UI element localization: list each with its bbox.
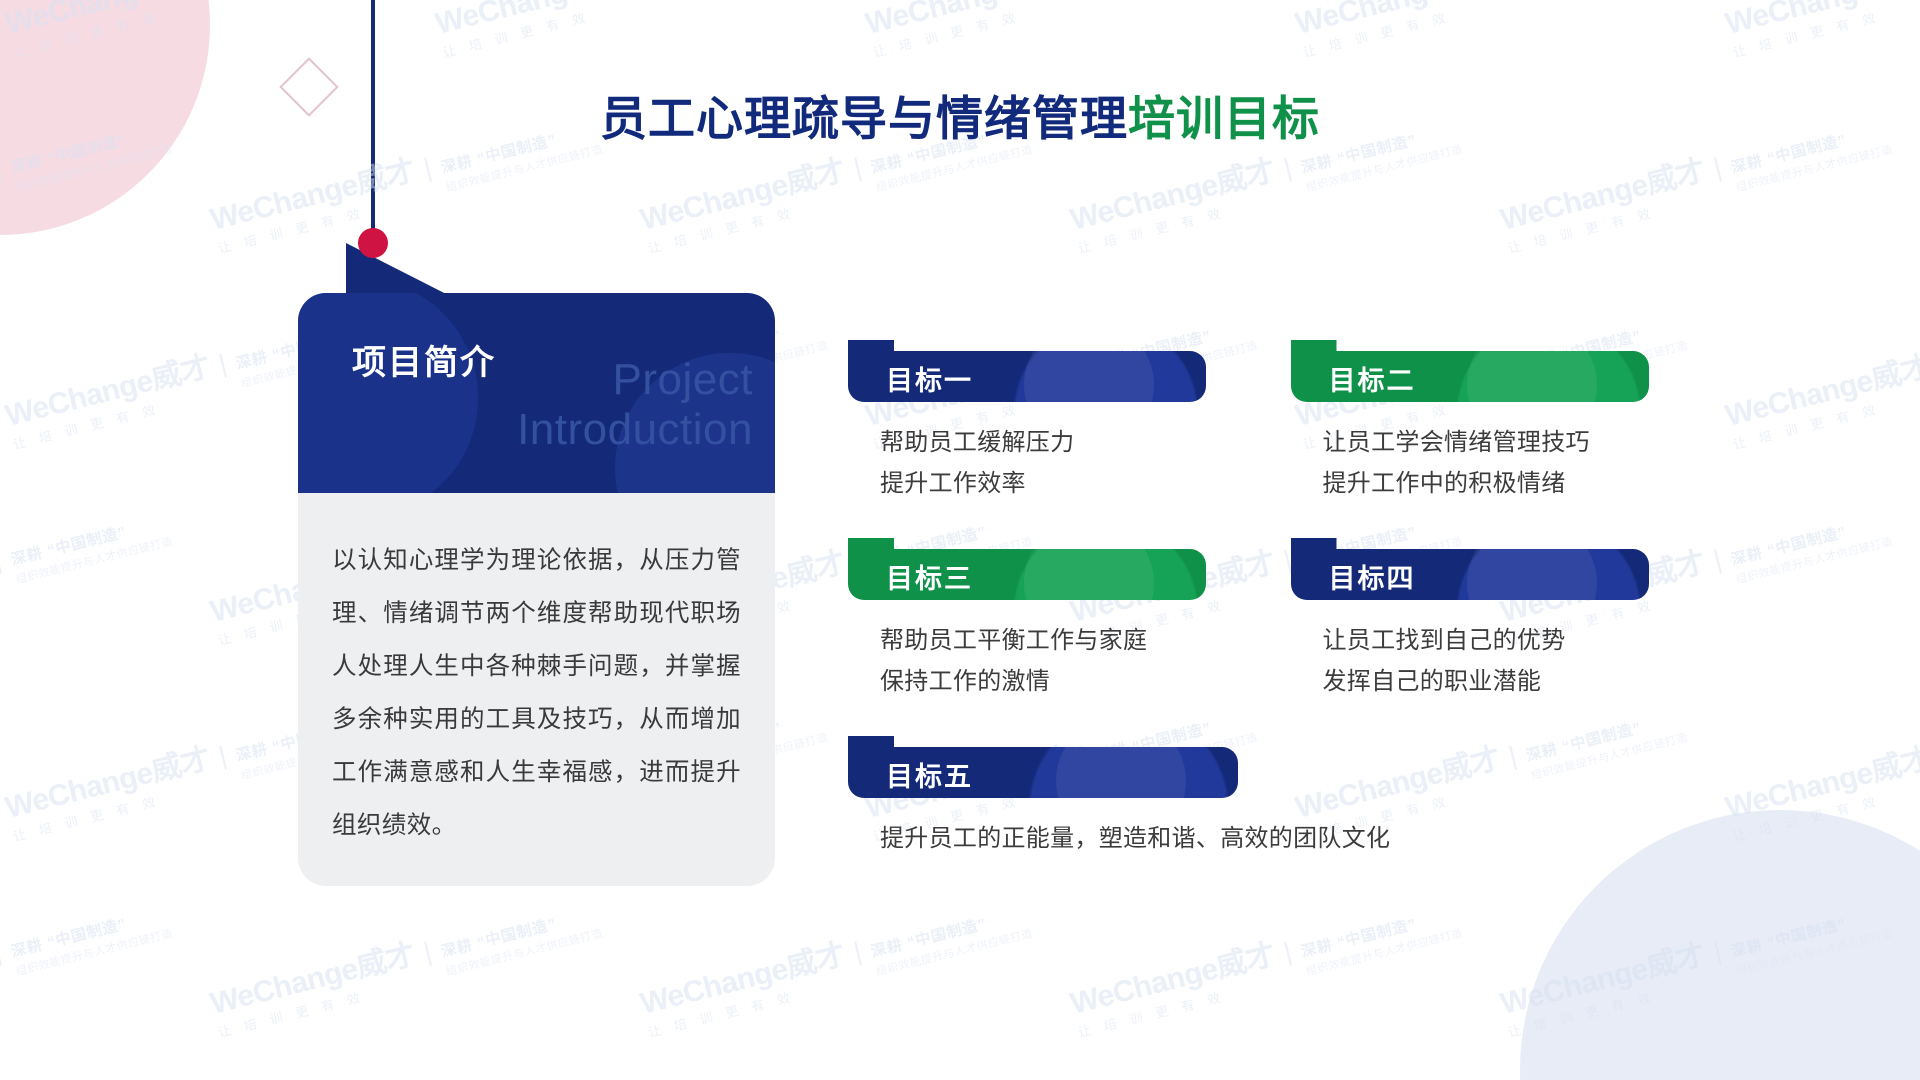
goal-banner-2[interactable]: 目标二 xyxy=(1291,340,1649,402)
watermark-tile: WeChange威才让 培 训 更 有 效|深耕 “中国制造”组织效能提升与人才… xyxy=(0,884,176,1041)
goal-description-5: 提升员工的正能量，塑造和谐、高效的团队文化 xyxy=(848,818,1678,859)
goals-row-2: 目标三 帮助员工平衡工作与家庭 保持工作的激情 目标四 让员工找到自己的优势 发… xyxy=(848,538,1678,736)
goal-description-4: 让员工找到自己的优势 发挥自己的职业潜能 xyxy=(1291,620,1679,702)
page-title: 员工心理疏导与情绪管理培训目标 xyxy=(0,80,1920,149)
goal-label-3: 目标三 xyxy=(886,557,973,596)
watermark-tile: WeChange威才让 培 训 更 有 效|深耕 “中国制造”组织效能提升与人才… xyxy=(430,0,831,61)
project-introduction-panel: 项目简介 Project Introduction 以认知心理学为理论依据，从压… xyxy=(298,293,775,886)
goal-banner-3[interactable]: 目标三 xyxy=(848,538,1206,600)
goals-container: 目标一 帮助员工缓解压力 提升工作效率 目标二 让员工学会情绪管理技巧 提升工作… xyxy=(848,340,1678,859)
goal-description-3: 帮助员工平衡工作与家庭 保持工作的激情 xyxy=(848,620,1236,702)
watermark-tile: WeChange威才让 培 训 更 有 效|深耕 “中国制造”组织效能提升与人才… xyxy=(1065,884,1466,1041)
goal-card-2: 目标二 让员工学会情绪管理技巧 提升工作中的积极情绪 xyxy=(1291,340,1679,538)
project-introduction-english-line2: Introduction xyxy=(517,405,753,455)
page-title-highlight: 培训目标 xyxy=(1128,92,1320,145)
goal-card-5: 目标五 提升员工的正能量，塑造和谐、高效的团队文化 xyxy=(848,736,1678,859)
watermark-tile: WeChange威才让 培 训 更 有 效|深耕 “中国制造”组织效能提升与人才… xyxy=(1720,0,1920,61)
goal-label-2: 目标二 xyxy=(1329,359,1416,398)
watermark-tile: WeChange威才让 培 训 更 有 效|深耕 “中国制造”组织效能提升与人才… xyxy=(635,884,1036,1041)
page-title-main: 员工心理疏导与情绪管理 xyxy=(600,92,1128,145)
project-introduction-header: 项目简介 Project Introduction xyxy=(298,293,775,493)
watermark-tile: WeChange威才让 培 训 更 有 效|深耕 “中国制造”组织效能提升与人才… xyxy=(0,492,176,649)
goal-banner-1[interactable]: 目标一 xyxy=(848,340,1206,402)
goal-label-1: 目标一 xyxy=(886,359,973,398)
watermark-tile: WeChange威才让 培 训 更 有 效|深耕 “中国制造”组织效能提升与人才… xyxy=(205,884,606,1041)
goal-card-4: 目标四 让员工找到自己的优势 发挥自己的职业潜能 xyxy=(1291,538,1679,736)
goal-banner-5[interactable]: 目标五 xyxy=(848,736,1238,798)
watermark-tile: WeChange威才让 培 训 更 有 效|深耕 “中国制造”组织效能提升与人才… xyxy=(860,0,1261,61)
slide-root: WeChange威才让 培 训 更 有 效|深耕 “中国制造”组织效能提升与人才… xyxy=(0,0,1920,1080)
project-introduction-body: 以认知心理学为理论依据，从压力管理、情绪调节两个维度帮助现代职场人处理人生中各种… xyxy=(298,493,775,886)
goal-card-3: 目标三 帮助员工平衡工作与家庭 保持工作的激情 xyxy=(848,538,1236,736)
goal-label-4: 目标四 xyxy=(1329,557,1416,596)
goal-description-1: 帮助员工缓解压力 提升工作效率 xyxy=(848,422,1236,504)
project-introduction-heading: 项目简介 xyxy=(298,293,775,384)
goal-description-2: 让员工学会情绪管理技巧 提升工作中的积极情绪 xyxy=(1291,422,1679,504)
watermark-tile: WeChange威才让 培 训 更 有 效|深耕 “中国制造”组织效能提升与人才… xyxy=(1290,0,1691,61)
goal-card-1: 目标一 帮助员工缓解压力 提升工作效率 xyxy=(848,340,1236,538)
goals-row-3: 目标五 提升员工的正能量，塑造和谐、高效的团队文化 xyxy=(848,736,1678,859)
goal-label-5: 目标五 xyxy=(886,755,973,794)
goal-banner-4[interactable]: 目标四 xyxy=(1291,538,1649,600)
red-dot-marker xyxy=(358,228,388,258)
goals-row-1: 目标一 帮助员工缓解压力 提升工作效率 目标二 让员工学会情绪管理技巧 提升工作… xyxy=(848,340,1678,538)
watermark-tile: WeChange威才让 培 训 更 有 效|深耕 “中国制造”组织效能提升与人才… xyxy=(1720,296,1920,453)
